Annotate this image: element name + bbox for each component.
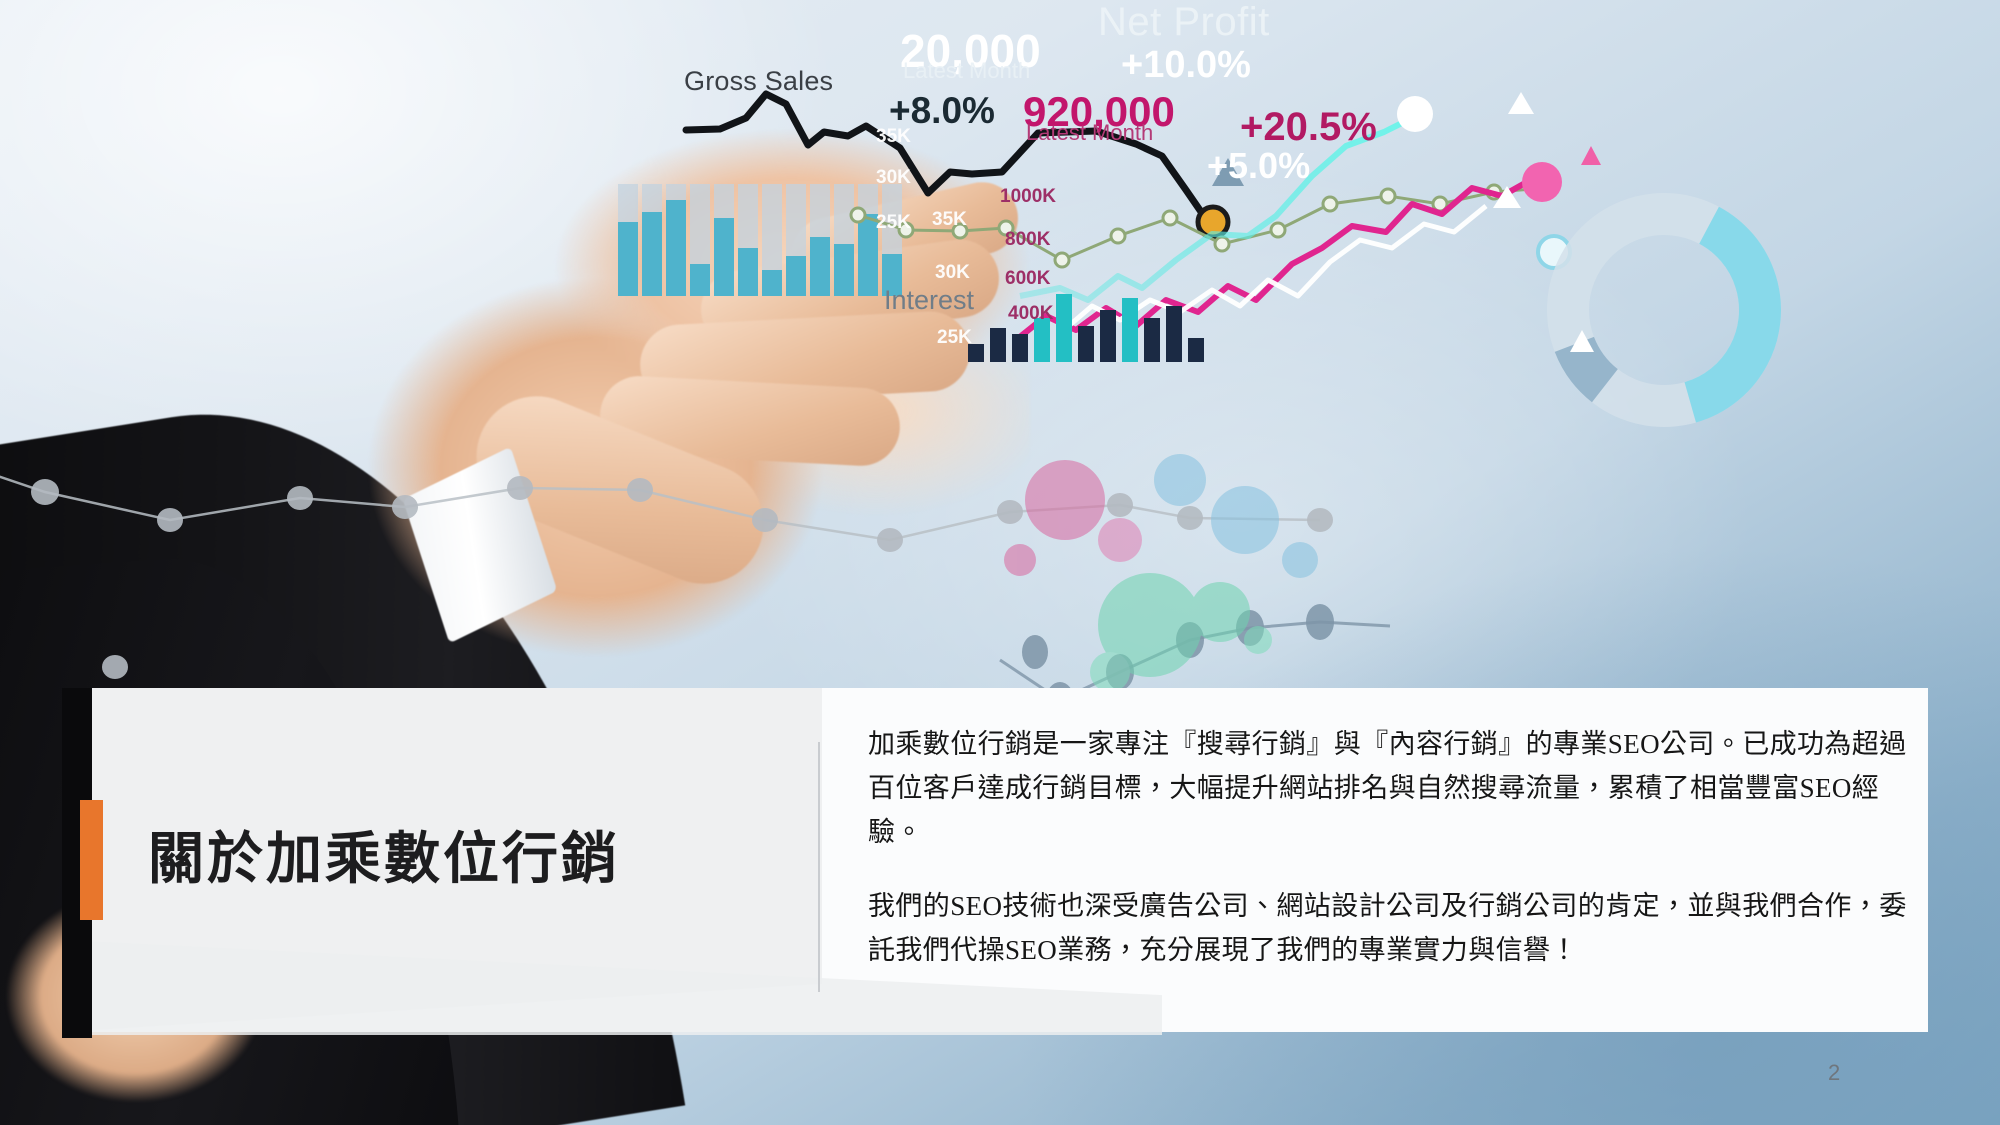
body-text: 加乘數位行銷是一家專注『搜尋行銷』與『內容行銷』的專業SEO公司。已成功為超過百… [868,722,1908,972]
body-paragraph-1: 加乘數位行銷是一家專注『搜尋行銷』與『內容行銷』的專業SEO公司。已成功為超過百… [868,722,1908,854]
vertical-divider [818,742,820,992]
body-paragraph-2: 我們的SEO技術也深受廣告公司、網站設計公司及行銷公司的肯定，並與我們合作，委託… [868,884,1908,972]
slide: Gross Sales Interest Net Profit 20,000 L… [0,0,2000,1125]
accent-bar [80,800,103,920]
page-number: 2 [1828,1060,1840,1086]
page-title: 關於加乘數位行銷 [148,828,708,892]
